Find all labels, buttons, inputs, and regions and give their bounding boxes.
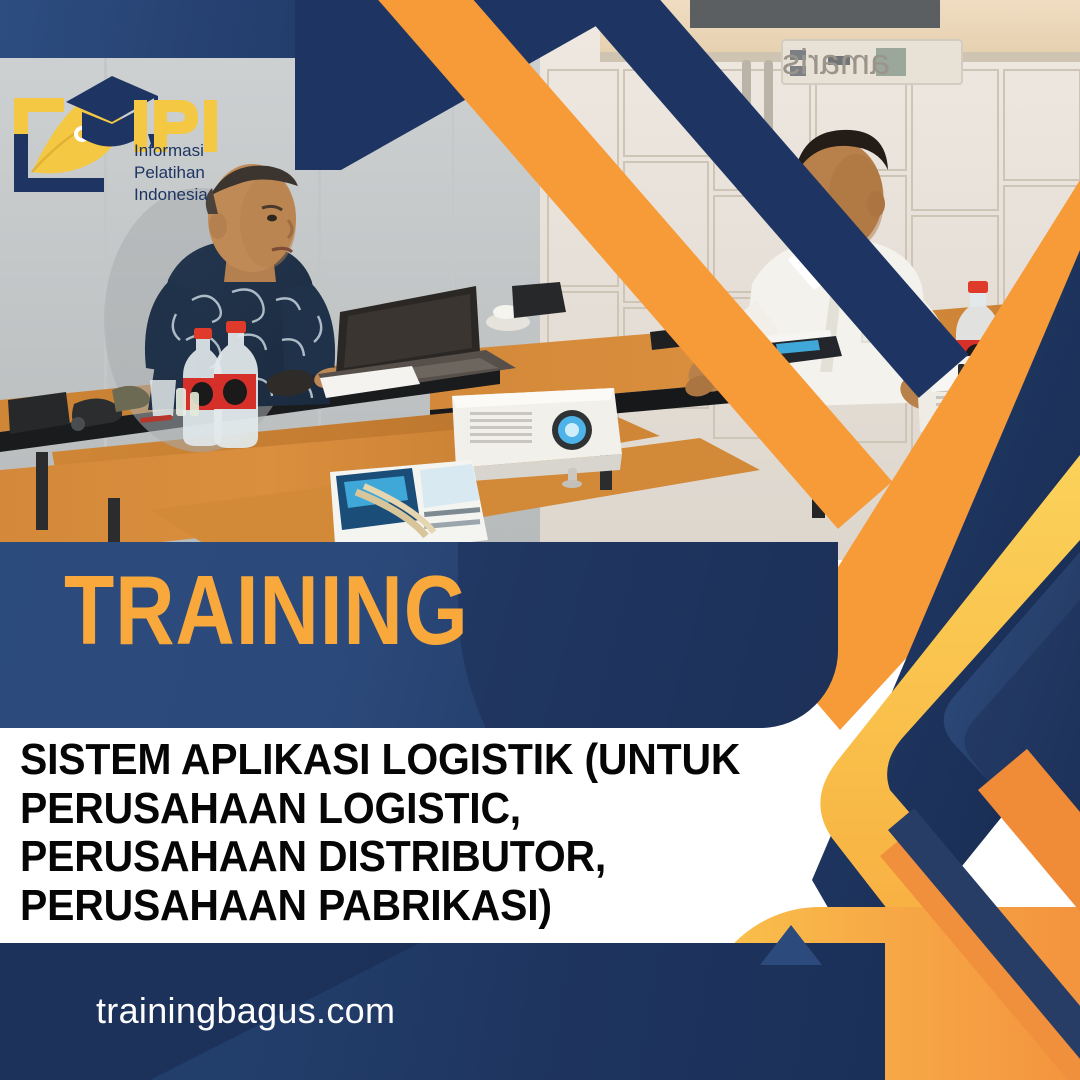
website-url[interactable]: trainingbagus.com	[96, 990, 395, 1032]
course-title-line-4: PERUSAHAAN PABRIKASI)	[20, 882, 838, 931]
logo-word-2: Pelatihan	[134, 162, 208, 184]
course-title-line-2: PERUSAHAAN LOGISTIC,	[20, 785, 838, 834]
training-label: TRAINING	[64, 561, 469, 659]
course-title-line-1: SISTEM APLIKASI LOGISTIK (UNTUK	[20, 736, 838, 785]
logo-wordmark: Informasi Pelatihan Indonesia	[134, 140, 208, 205]
course-title-line-3: PERUSAHAAN DISTRIBUTOR,	[20, 833, 838, 882]
training-banner: TRAINING	[0, 542, 838, 728]
course-title: SISTEM APLIKASI LOGISTIK (UNTUK PERUSAHA…	[20, 736, 900, 930]
ipi-logo[interactable]: Informasi Pelatihan Indonesia	[8, 72, 218, 212]
poster-canvas: amaris	[0, 0, 1080, 1080]
logo-word-1: Informasi	[134, 140, 208, 162]
logo-word-3: Indonesia	[134, 184, 208, 206]
